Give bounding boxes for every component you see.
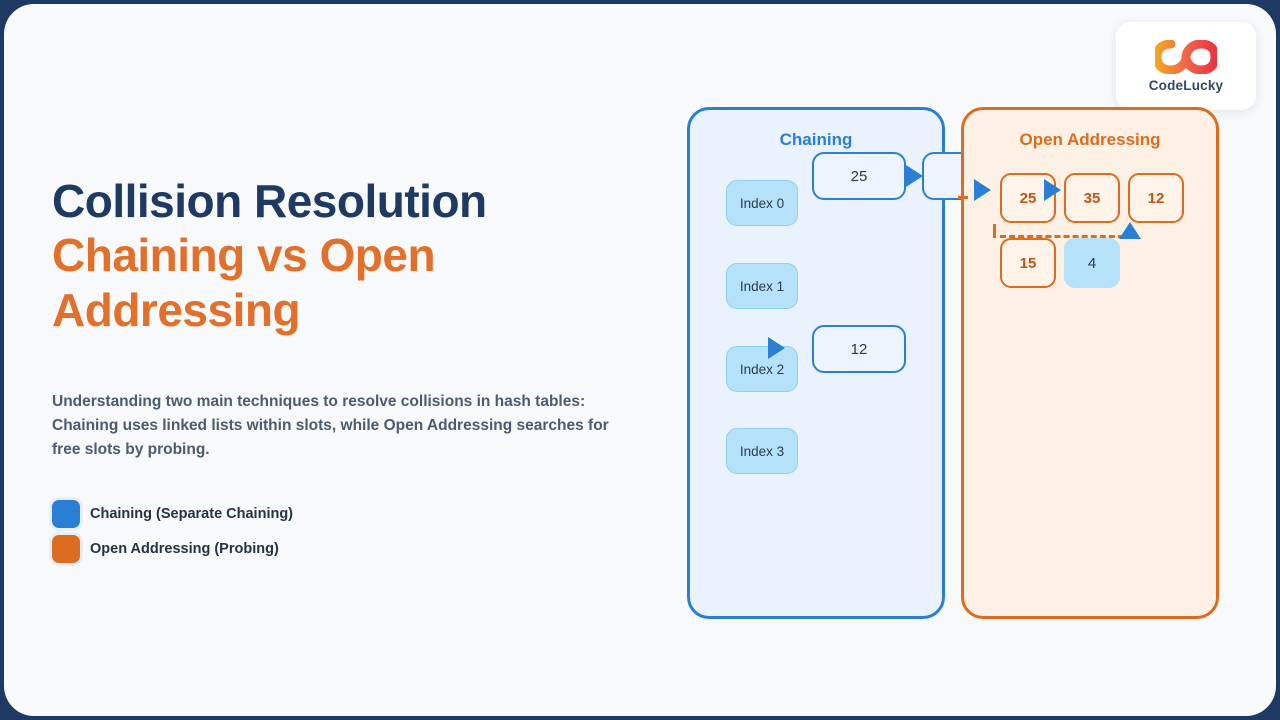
- page-title-secondary: Chaining vs Open Addressing: [52, 228, 482, 337]
- open-cell-4-value: 4: [1088, 255, 1096, 272]
- chaining-slot-1-label: Index 1: [740, 279, 784, 294]
- slide-card: CodeLucky Collision Resolution Chaining …: [4, 4, 1276, 716]
- brand-name: CodeLucky: [1149, 78, 1224, 93]
- page-title-primary: Collision Resolution: [52, 174, 652, 228]
- chaining-slot-1: Index 1: [726, 263, 798, 309]
- panel-title-open-addressing: Open Addressing: [964, 130, 1216, 150]
- chaining-node-25-value: 25: [851, 168, 868, 185]
- chaining-node-12-value: 12: [851, 341, 868, 358]
- probe-stub-down: [993, 224, 996, 238]
- legend: Chaining (Separate Chaining) Open Addres…: [52, 500, 293, 570]
- chaining-arrow-slot2-to-12: [768, 337, 785, 359]
- slide-frame: CodeLucky Collision Resolution Chaining …: [0, 0, 1280, 720]
- chaining-slot-0-label: Index 0: [740, 196, 784, 211]
- chaining-node-12: 12: [812, 325, 906, 373]
- infinity-loop-icon: [1155, 40, 1217, 74]
- probe-entry-tick: [958, 196, 968, 199]
- open-cell-4: 4: [1064, 238, 1120, 288]
- legend-label-open-addressing: Open Addressing (Probing): [90, 541, 279, 557]
- chaining-slot-2: Index 2: [726, 346, 798, 392]
- probe-dashed-line: [1000, 235, 1124, 238]
- legend-item-chaining: Chaining (Separate Chaining): [52, 500, 293, 528]
- chaining-slot-2-label: Index 2: [740, 362, 784, 377]
- open-cell-12: 12: [1128, 173, 1184, 223]
- open-cell-12-value: 12: [1148, 190, 1165, 207]
- chaining-slot-3: Index 3: [726, 428, 798, 474]
- open-cell-35-value: 35: [1084, 190, 1101, 207]
- probe-arrow-into-12: [1119, 222, 1141, 239]
- legend-swatch-open-addressing: [52, 535, 80, 563]
- panel-title-chaining: Chaining: [690, 130, 942, 150]
- legend-swatch-chaining: [52, 500, 80, 528]
- chaining-slot-0: Index 0: [726, 180, 798, 226]
- open-cell-35: 35: [1064, 173, 1120, 223]
- open-entry-arrow: [974, 179, 991, 201]
- open-cell-15-value: 15: [1020, 255, 1037, 272]
- hero-text-block: Collision Resolution Chaining vs Open Ad…: [52, 174, 652, 337]
- brand-logo: CodeLucky: [1116, 22, 1256, 110]
- chaining-node-25: 25: [812, 152, 906, 200]
- chaining-arrow-25-to-next: [906, 165, 923, 187]
- legend-label-chaining: Chaining (Separate Chaining): [90, 506, 293, 522]
- open-cell-15: 15: [1000, 238, 1056, 288]
- legend-item-open-addressing: Open Addressing (Probing): [52, 535, 293, 563]
- open-arrow-25-to-35: [1044, 179, 1061, 201]
- page-description: Understanding two main techniques to res…: [52, 390, 622, 462]
- panel-open-addressing: Open Addressing 25 35 12 15 4: [961, 107, 1219, 619]
- chaining-slot-3-label: Index 3: [740, 444, 784, 459]
- collision-resolution-diagram: Chaining Index 0 Index 1 Index 2 Index 3…: [664, 99, 1244, 639]
- open-cell-25-value: 25: [1020, 190, 1037, 207]
